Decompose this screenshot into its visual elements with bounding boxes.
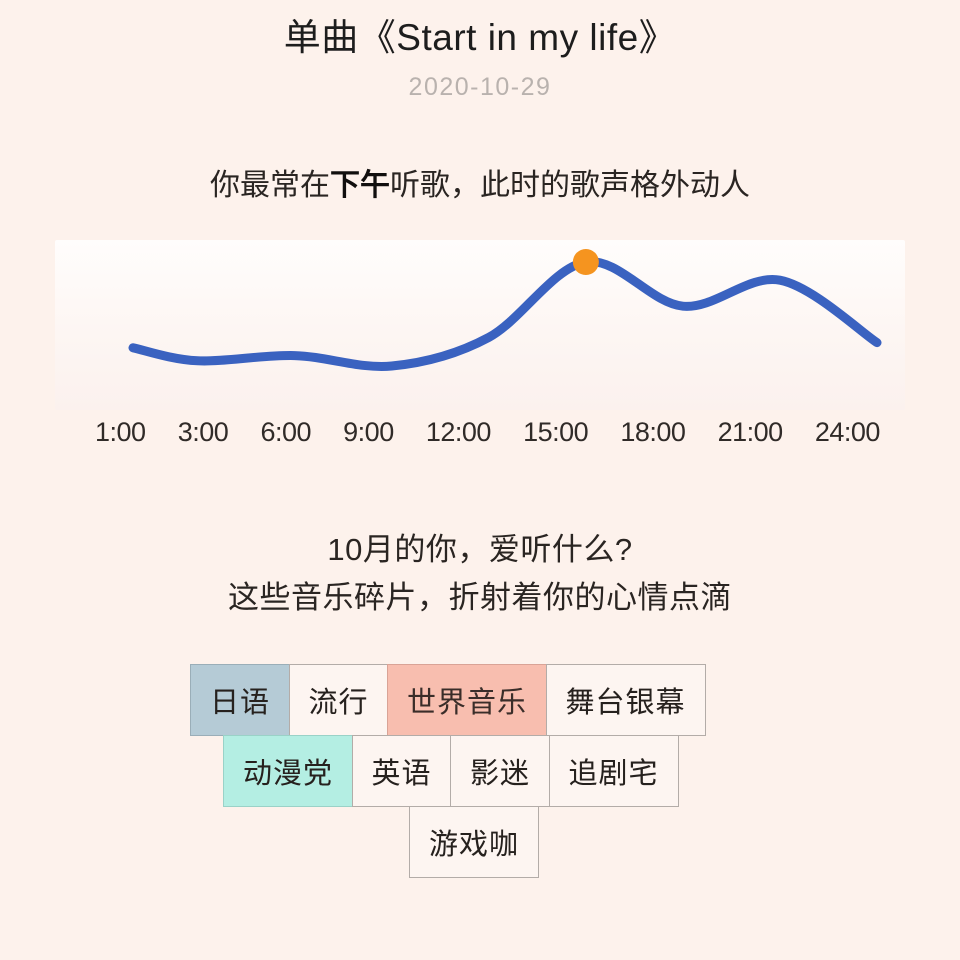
tag-row: 日语流行世界音乐舞台银幕 bbox=[0, 664, 960, 736]
x-tick: 1:00 bbox=[95, 416, 146, 448]
habit-highlight: 下午 bbox=[330, 169, 390, 202]
genre-tag[interactable]: 舞台银幕 bbox=[546, 664, 706, 736]
genre-tag[interactable]: 游戏咖 bbox=[409, 806, 539, 878]
genre-tag[interactable]: 英语 bbox=[352, 735, 452, 807]
x-tick: 9:00 bbox=[343, 416, 394, 448]
genre-tag[interactable]: 影迷 bbox=[450, 735, 550, 807]
chart-x-axis: 1:00 3:00 6:00 9:00 12:00 15:00 18:00 21… bbox=[95, 416, 880, 448]
listening-curve-line bbox=[133, 262, 877, 367]
x-tick: 24:00 bbox=[815, 416, 880, 448]
genre-tag[interactable]: 追剧宅 bbox=[549, 735, 679, 807]
habit-suffix: 听歌，此时的歌声格外动人 bbox=[390, 169, 750, 202]
listening-curve-svg bbox=[55, 240, 905, 410]
x-tick: 18:00 bbox=[620, 416, 685, 448]
page-title: 单曲《Start in my life》 bbox=[0, 14, 960, 62]
genre-tag[interactable]: 流行 bbox=[289, 664, 389, 736]
prompt-subtitle: 这些音乐碎片，折射着你的心情点滴 bbox=[0, 576, 960, 620]
tag-row: 游戏咖 bbox=[0, 806, 960, 878]
prompt-question: 10月的你，爱听什么? bbox=[0, 528, 960, 572]
listening-habit-text: 你最常在下午听歌，此时的歌声格外动人 bbox=[0, 166, 960, 206]
x-tick: 21:00 bbox=[718, 416, 783, 448]
song-date: 2020-10-29 bbox=[0, 72, 960, 102]
tag-row: 动漫党英语影迷追剧宅 bbox=[0, 735, 960, 807]
genre-tag[interactable]: 世界音乐 bbox=[387, 664, 547, 736]
x-tick: 15:00 bbox=[523, 416, 588, 448]
peak-marker-icon bbox=[573, 249, 599, 275]
genre-prompt: 10月的你，爱听什么? 这些音乐碎片，折射着你的心情点滴 bbox=[0, 528, 960, 620]
habit-prefix: 你最常在 bbox=[210, 169, 330, 202]
x-tick: 6:00 bbox=[260, 416, 311, 448]
listening-time-chart bbox=[55, 240, 905, 410]
x-tick: 12:00 bbox=[426, 416, 491, 448]
header: 单曲《Start in my life》 2020-10-29 bbox=[0, 14, 960, 102]
genre-tag[interactable]: 日语 bbox=[190, 664, 290, 736]
genre-tag[interactable]: 动漫党 bbox=[223, 735, 353, 807]
x-tick: 3:00 bbox=[178, 416, 229, 448]
genre-tag-grid: 日语流行世界音乐舞台银幕 动漫党英语影迷追剧宅 游戏咖 bbox=[0, 664, 960, 878]
